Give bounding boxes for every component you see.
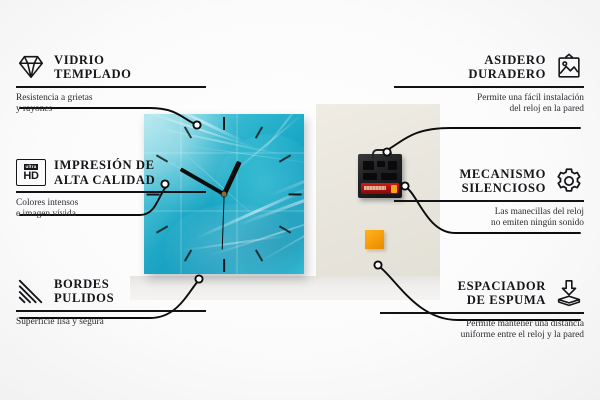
feature-espaciador-espuma: ESPACIADOR DE ESPUMA Permite mantener un… (380, 278, 584, 341)
feature-header: BORDES PULIDOS (16, 276, 206, 306)
foam-spacer-part (365, 230, 384, 249)
mechanism-slot (377, 161, 385, 167)
divider (16, 86, 206, 88)
hanger-lug-icon (372, 149, 392, 159)
divider (394, 200, 584, 202)
feature-impresion-alta-calidad: ultra HD IMPRESIÓN DE ALTA CALIDAD Color… (16, 158, 206, 220)
feature-title: ESPACIADOR DE ESPUMA (458, 279, 546, 308)
feature-title: IMPRESIÓN DE ALTA CALIDAD (54, 158, 155, 187)
feature-asidero-duradero: ASIDERO DURADERO Permite una fácil insta… (394, 52, 584, 115)
feature-header: ESPACIADOR DE ESPUMA (380, 278, 584, 308)
divider (16, 310, 206, 312)
clock-hub (222, 192, 227, 197)
feature-header: MECANISMO SILENCIOSO (394, 166, 584, 196)
divider (380, 312, 584, 314)
feature-description: Permite una fácil instalación del reloj … (394, 93, 584, 116)
infographic-stage: VIDRIO TEMPLADO Resistencia a grietas y … (0, 0, 600, 400)
print-band (236, 114, 238, 274)
divider (16, 191, 206, 193)
battery-label (364, 186, 386, 190)
feature-description: Colores intensos e imagen vívida (16, 198, 206, 221)
feature-bordes-pulidos: BORDES PULIDOS Superficie lisa y segura (16, 276, 206, 328)
feature-header: ultra HD IMPRESIÓN DE ALTA CALIDAD (16, 158, 206, 187)
feature-title: ASIDERO DURADERO (468, 53, 546, 82)
clock-tick (288, 193, 301, 195)
clock-tick (156, 225, 168, 233)
print-band (144, 152, 304, 154)
picture-hanger-icon (554, 52, 584, 82)
ultra-hd-badge-icon: ultra HD (16, 159, 46, 186)
feature-title: MECANISMO SILENCIOSO (459, 167, 546, 196)
clock-tick (223, 117, 225, 130)
divider (394, 86, 584, 88)
feature-description: Resistencia a grietas y rayones (16, 93, 206, 116)
feature-header: VIDRIO TEMPLADO (16, 52, 206, 82)
mechanism-slot (363, 173, 377, 180)
feature-description: Permite mantener una distancia uniforme … (380, 319, 584, 342)
foam-spacer-icon (554, 278, 584, 308)
mechanism-slot (363, 161, 374, 170)
feature-title: VIDRIO TEMPLADO (54, 53, 132, 82)
diamond-icon (16, 52, 46, 82)
feature-description: Superficie lisa y segura (16, 317, 206, 328)
feature-description: Las manecillas del reloj no emiten ningú… (394, 207, 584, 230)
polished-edges-icon (16, 276, 46, 306)
feature-header: ASIDERO DURADERO (394, 52, 584, 82)
feature-title: BORDES PULIDOS (54, 277, 114, 306)
clock-tick (223, 259, 225, 272)
gear-icon (554, 166, 584, 196)
feature-vidrio-templado: VIDRIO TEMPLADO Resistencia a grietas y … (16, 52, 206, 115)
feature-mecanismo-silencioso: MECANISMO SILENCIOSO Las manecillas del … (394, 166, 584, 229)
